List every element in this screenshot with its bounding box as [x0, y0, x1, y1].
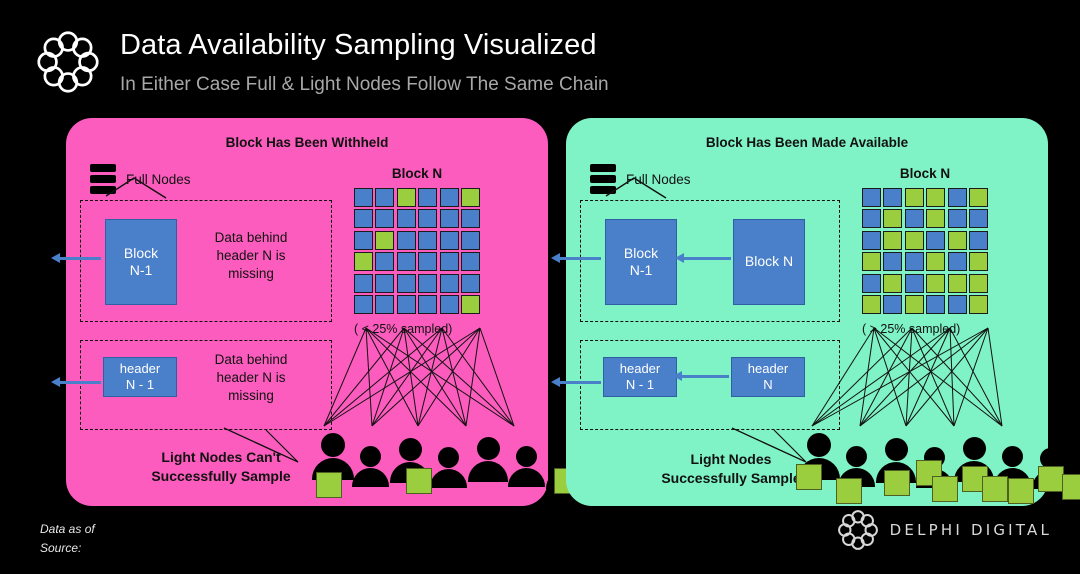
person-body-icon [468, 461, 508, 482]
sampled-caption-left: ( < 25% sampled) [354, 322, 480, 336]
page-title: Data Availability Sampling Visualized [120, 29, 597, 62]
matrix-cell [905, 231, 924, 250]
matrix-cell [926, 231, 945, 250]
matrix-cell [461, 252, 480, 271]
light-node-person [468, 437, 508, 482]
person-head-icon [1002, 446, 1023, 467]
matrix-cell [883, 231, 902, 250]
block-n-1-left: Block N-1 [105, 219, 177, 305]
matrix-cell [375, 252, 394, 271]
matrix-cell [440, 209, 459, 228]
matrix-cell [397, 231, 416, 250]
source-label: Source: [40, 539, 95, 558]
matrix-cell [905, 252, 924, 271]
matrix-cell [440, 231, 459, 250]
delphi-ring-logo-icon [836, 508, 880, 552]
person-head-icon [477, 437, 500, 460]
matrix-cell [948, 295, 967, 314]
sample-square [982, 476, 1008, 502]
matrix-cell [883, 188, 902, 207]
person-head-icon [321, 433, 345, 457]
matrix-cell [883, 295, 902, 314]
matrix-cell [354, 274, 373, 293]
data-as-of-label: Data as of [40, 520, 95, 539]
matrix-grid-right [862, 188, 988, 314]
panel-block-available: Block Has Been Made Available Full Nodes… [566, 118, 1048, 506]
matrix-cell [862, 231, 881, 250]
matrix-cell [418, 252, 437, 271]
matrix-cell [948, 209, 967, 228]
matrix-cell [418, 295, 437, 314]
brand-wordmark: DELPHI DIGITAL [890, 521, 1052, 539]
light-node-person [352, 446, 389, 487]
block-n-right: Block N [733, 219, 805, 305]
header-line2: N - 1 [626, 377, 654, 392]
matrix-cell [926, 209, 945, 228]
matrix-cell [948, 231, 967, 250]
matrix-cell [397, 295, 416, 314]
light-node-person [1068, 432, 1080, 479]
matrix-cell [969, 188, 988, 207]
block-line1: Block [124, 245, 158, 261]
matrix-cell [440, 252, 459, 271]
matrix-cell [969, 252, 988, 271]
matrix-cell [883, 274, 902, 293]
matrix-cell [440, 295, 459, 314]
header-line1: header [120, 361, 160, 376]
person-head-icon [399, 438, 422, 461]
sample-square [316, 472, 342, 498]
block-matrix-right: Block N ( > 25% sampled) [862, 166, 988, 336]
header-line1: header [748, 361, 788, 376]
chain-arrow-out-left [59, 257, 101, 260]
sample-square [884, 470, 910, 496]
matrix-cell [969, 231, 988, 250]
matrix-cell [883, 252, 902, 271]
matrix-cell [461, 295, 480, 314]
missing-data-note-blocks-left: Data behind header N is missing [191, 229, 311, 284]
block-matrix-left: Block N ( < 25% sampled) [354, 166, 480, 336]
matrix-cell [375, 295, 394, 314]
block-line2: N-1 [630, 262, 653, 278]
matrix-cell [440, 274, 459, 293]
matrix-cell [969, 209, 988, 228]
sample-square [1008, 478, 1034, 504]
person-head-icon [846, 446, 867, 467]
header-n-1-left: header N - 1 [103, 357, 177, 397]
matrix-cell [418, 188, 437, 207]
light-node-person [430, 447, 467, 488]
matrix-cell [905, 188, 924, 207]
matrix-cell [461, 188, 480, 207]
block-line1: Block [624, 245, 658, 261]
matrix-title-right: Block N [862, 166, 988, 181]
delphi-ring-logo-icon [34, 28, 102, 96]
matrix-cell [461, 274, 480, 293]
matrix-cell [375, 188, 394, 207]
matrix-cell [375, 274, 394, 293]
header-n-right: header N [731, 357, 805, 397]
matrix-cell [418, 209, 437, 228]
sample-square [932, 476, 958, 502]
matrix-cell [354, 295, 373, 314]
matrix-cell [969, 274, 988, 293]
sample-square [796, 464, 822, 490]
light-node-person [508, 446, 545, 487]
matrix-grid-left [354, 188, 480, 314]
matrix-cell [969, 295, 988, 314]
matrix-cell [354, 252, 373, 271]
missing-data-note-headers-left: Data behind header N is missing [191, 351, 311, 406]
matrix-title-left: Block N [354, 166, 480, 181]
matrix-cell [375, 231, 394, 250]
light-nodes-people-right [566, 430, 1048, 500]
matrix-cell [354, 209, 373, 228]
header: Data Availability Sampling Visualized In… [0, 0, 1080, 110]
person-head-icon [360, 446, 381, 467]
matrix-cell [905, 274, 924, 293]
person-head-icon [807, 433, 831, 457]
full-node-chain-box-left: Block N-1 Data behind header N is missin… [80, 200, 332, 322]
person-body-icon [352, 468, 389, 487]
matrix-cell [461, 231, 480, 250]
diagram-canvas: Data Availability Sampling Visualized In… [0, 0, 1080, 574]
matrix-cell [418, 274, 437, 293]
person-head-icon [963, 437, 986, 460]
matrix-cell [397, 209, 416, 228]
person-head-icon [438, 447, 459, 468]
sample-square [1062, 474, 1080, 500]
light-nodes-people-left [66, 430, 548, 500]
person-body-icon [430, 469, 467, 488]
matrix-cell [461, 209, 480, 228]
matrix-cell [862, 188, 881, 207]
footer-notes: Data as of Source: [40, 520, 95, 557]
person-head-icon [516, 446, 537, 467]
light-node-header-box-right: header N - 1 header N [580, 340, 840, 430]
matrix-cell [926, 188, 945, 207]
matrix-cell [862, 209, 881, 228]
matrix-cell [862, 252, 881, 271]
full-node-chain-box-right: Block N-1 Block N [580, 200, 840, 322]
header-line1: header [620, 361, 660, 376]
matrix-cell [862, 274, 881, 293]
matrix-cell [905, 209, 924, 228]
matrix-cell [397, 274, 416, 293]
page-subtitle: In Either Case Full & Light Nodes Follow… [120, 74, 609, 96]
matrix-cell [926, 274, 945, 293]
chain-arrow-out-right [559, 257, 601, 260]
block-line1: Block N [745, 253, 793, 271]
chain-arrow-inner-right [683, 257, 731, 260]
header-line2: N [763, 377, 772, 392]
panel-block-withheld: Block Has Been Withheld Full Nodes Block… [66, 118, 548, 506]
matrix-cell [883, 209, 902, 228]
matrix-cell [375, 209, 394, 228]
header-arrow-out-left [59, 381, 101, 384]
person-body-icon [508, 468, 545, 487]
matrix-cell [948, 252, 967, 271]
matrix-cell [926, 295, 945, 314]
sampled-caption-right: ( > 25% sampled) [862, 322, 988, 336]
matrix-cell [948, 274, 967, 293]
footer-brand: DELPHI DIGITAL [836, 508, 1052, 552]
block-line2: N-1 [130, 262, 153, 278]
matrix-cell [905, 295, 924, 314]
header-line2: N - 1 [126, 377, 154, 392]
matrix-cell [397, 252, 416, 271]
block-n-1-right: Block N-1 [605, 219, 677, 305]
sample-square [406, 468, 432, 494]
light-node-header-box-left: header N - 1 Data behind header N is mis… [80, 340, 332, 430]
matrix-cell [862, 295, 881, 314]
matrix-cell [440, 188, 459, 207]
matrix-cell [926, 252, 945, 271]
sample-square [1038, 466, 1064, 492]
matrix-cell [354, 188, 373, 207]
matrix-cell [948, 188, 967, 207]
header-n-1-right: header N - 1 [603, 357, 677, 397]
sample-square [836, 478, 862, 504]
header-arrow-out-right [559, 381, 601, 384]
header-arrow-inner-right [681, 375, 729, 378]
matrix-cell [418, 231, 437, 250]
matrix-cell [354, 231, 373, 250]
person-head-icon [885, 438, 908, 461]
matrix-cell [397, 188, 416, 207]
